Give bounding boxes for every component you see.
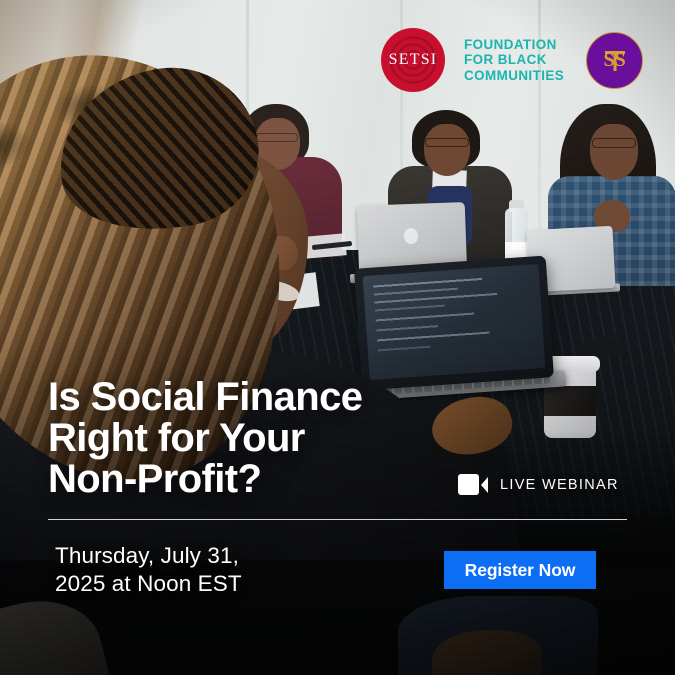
video-camera-body xyxy=(458,474,479,495)
coffee-cup-sleeve xyxy=(544,386,596,416)
person-three-glasses xyxy=(592,138,636,148)
register-now-label: Register Now xyxy=(465,560,576,581)
person-one-glasses xyxy=(256,133,298,142)
laptop-screen-text xyxy=(363,264,546,380)
video-camera-lens xyxy=(481,477,488,493)
live-webinar-label: LIVE WEBINAR xyxy=(500,477,619,493)
register-now-button[interactable]: Register Now xyxy=(444,551,596,589)
live-webinar-badge: LIVE WEBINAR xyxy=(458,474,619,495)
event-date: Thursday, July 31, 2025 at Noon EST xyxy=(55,542,242,599)
person-three-face xyxy=(590,124,638,180)
setsi-logo-text: SETSI xyxy=(389,52,438,68)
person-two-face xyxy=(424,124,470,176)
webinar-poster: SETSI FOUNDATION FOR BLACK COMMUNITIES S… xyxy=(0,0,675,675)
sis-logo[interactable]: SS xyxy=(586,32,643,89)
sis-logo-stem xyxy=(613,54,616,71)
foreground-laptop-screen xyxy=(363,264,546,380)
page-title: Is Social Finance Right for Your Non-Pro… xyxy=(48,377,362,501)
person-two-glasses xyxy=(425,138,469,147)
video-camera-icon xyxy=(458,474,488,495)
divider xyxy=(48,519,627,520)
foundation-for-black-communities-logo[interactable]: FOUNDATION FOR BLACK COMMUNITIES xyxy=(464,37,564,84)
apple-logo-icon xyxy=(404,228,419,244)
setsi-logo[interactable]: SETSI xyxy=(381,28,445,92)
logo-bar: SETSI FOUNDATION FOR BLACK COMMUNITIES S… xyxy=(381,28,643,92)
